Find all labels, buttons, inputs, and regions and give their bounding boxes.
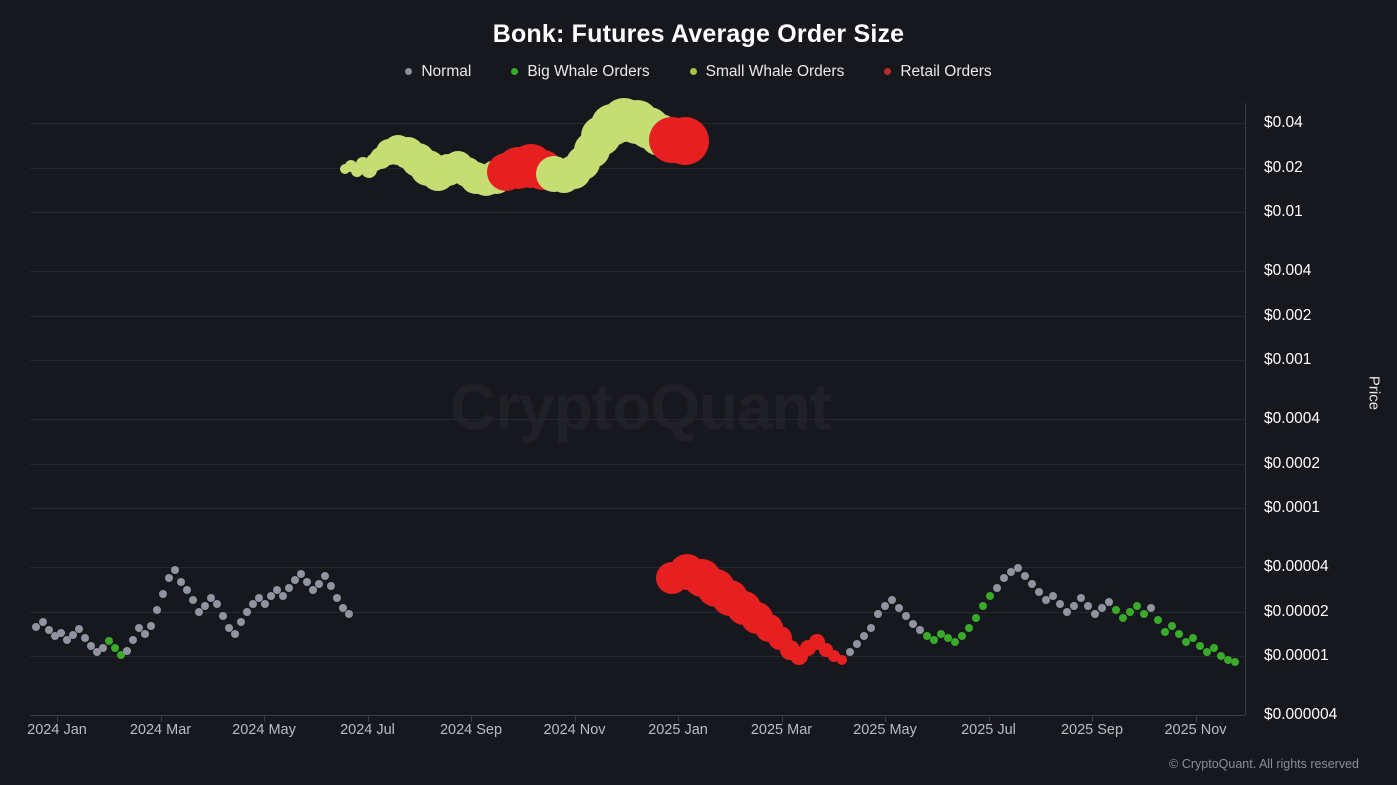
legend-item-label: Normal [421, 64, 471, 80]
x-axis-tick-label: 2025 May [853, 722, 917, 738]
y-axis-tick-label: $0.000004 [1264, 706, 1337, 724]
x-axis-tick-label: 2025 Sep [1061, 722, 1123, 738]
x-axis-tick-label: 2024 Mar [130, 722, 191, 738]
legend-item[interactable]: Normal [405, 64, 471, 80]
y-axis-tick-label: $0.04 [1264, 114, 1303, 132]
y-axis-tick-label: $0.00004 [1264, 558, 1329, 576]
legend-marker-icon [690, 68, 697, 75]
x-axis-tick-label: 2025 Mar [751, 722, 812, 738]
legend-item-label: Big Whale Orders [527, 64, 649, 80]
legend-marker-icon [511, 68, 518, 75]
legend-item[interactable]: Retail Orders [884, 64, 991, 80]
chart-root: Bonk: Futures Average Order Size NormalB… [0, 0, 1397, 785]
copyright-footer: © CryptoQuant. All rights reserved [1169, 757, 1359, 771]
y-axis-tick-label: $0.0001 [1264, 499, 1320, 517]
legend-item[interactable]: Big Whale Orders [511, 64, 649, 80]
y-axis-tick-label: $0.0002 [1264, 455, 1320, 473]
x-axis-tick-label: 2025 Jul [961, 722, 1016, 738]
x-axis-line [30, 715, 1245, 716]
y-axis-line [1245, 103, 1246, 715]
y-axis-tick-label: $0.002 [1264, 307, 1311, 325]
order-size-series-upper [30, 103, 1245, 715]
x-axis-tick-label: 2024 Jul [340, 722, 395, 738]
chart-legend: NormalBig Whale OrdersSmall Whale Orders… [0, 64, 1397, 80]
y-axis-tick-label: $0.0004 [1264, 410, 1320, 428]
plot-area [30, 103, 1245, 715]
legend-marker-icon [405, 68, 412, 75]
x-axis-tick-label: 2024 May [232, 722, 296, 738]
legend-item[interactable]: Small Whale Orders [690, 64, 845, 80]
x-axis-tick-label: 2024 Jan [27, 722, 87, 738]
y-axis-tick-label: $0.001 [1264, 351, 1311, 369]
y-axis-tick-label: $0.00002 [1264, 603, 1329, 621]
x-axis-tick-label: 2024 Nov [543, 722, 605, 738]
legend-item-label: Retail Orders [900, 64, 991, 80]
y-axis-tick-label: $0.00001 [1264, 647, 1329, 665]
data-point [661, 117, 709, 165]
y-axis-tick-label: $0.01 [1264, 203, 1303, 221]
x-axis-tick-label: 2025 Nov [1164, 722, 1226, 738]
x-axis-tick-label: 2024 Sep [440, 722, 502, 738]
y-axis-title: Price [1365, 375, 1382, 409]
x-axis-tick-label: 2025 Jan [648, 722, 708, 738]
y-axis-tick-label: $0.02 [1264, 159, 1303, 177]
legend-item-label: Small Whale Orders [706, 64, 845, 80]
y-axis-tick-label: $0.004 [1264, 262, 1311, 280]
page-title: Bonk: Futures Average Order Size [0, 20, 1397, 49]
legend-marker-icon [884, 68, 891, 75]
